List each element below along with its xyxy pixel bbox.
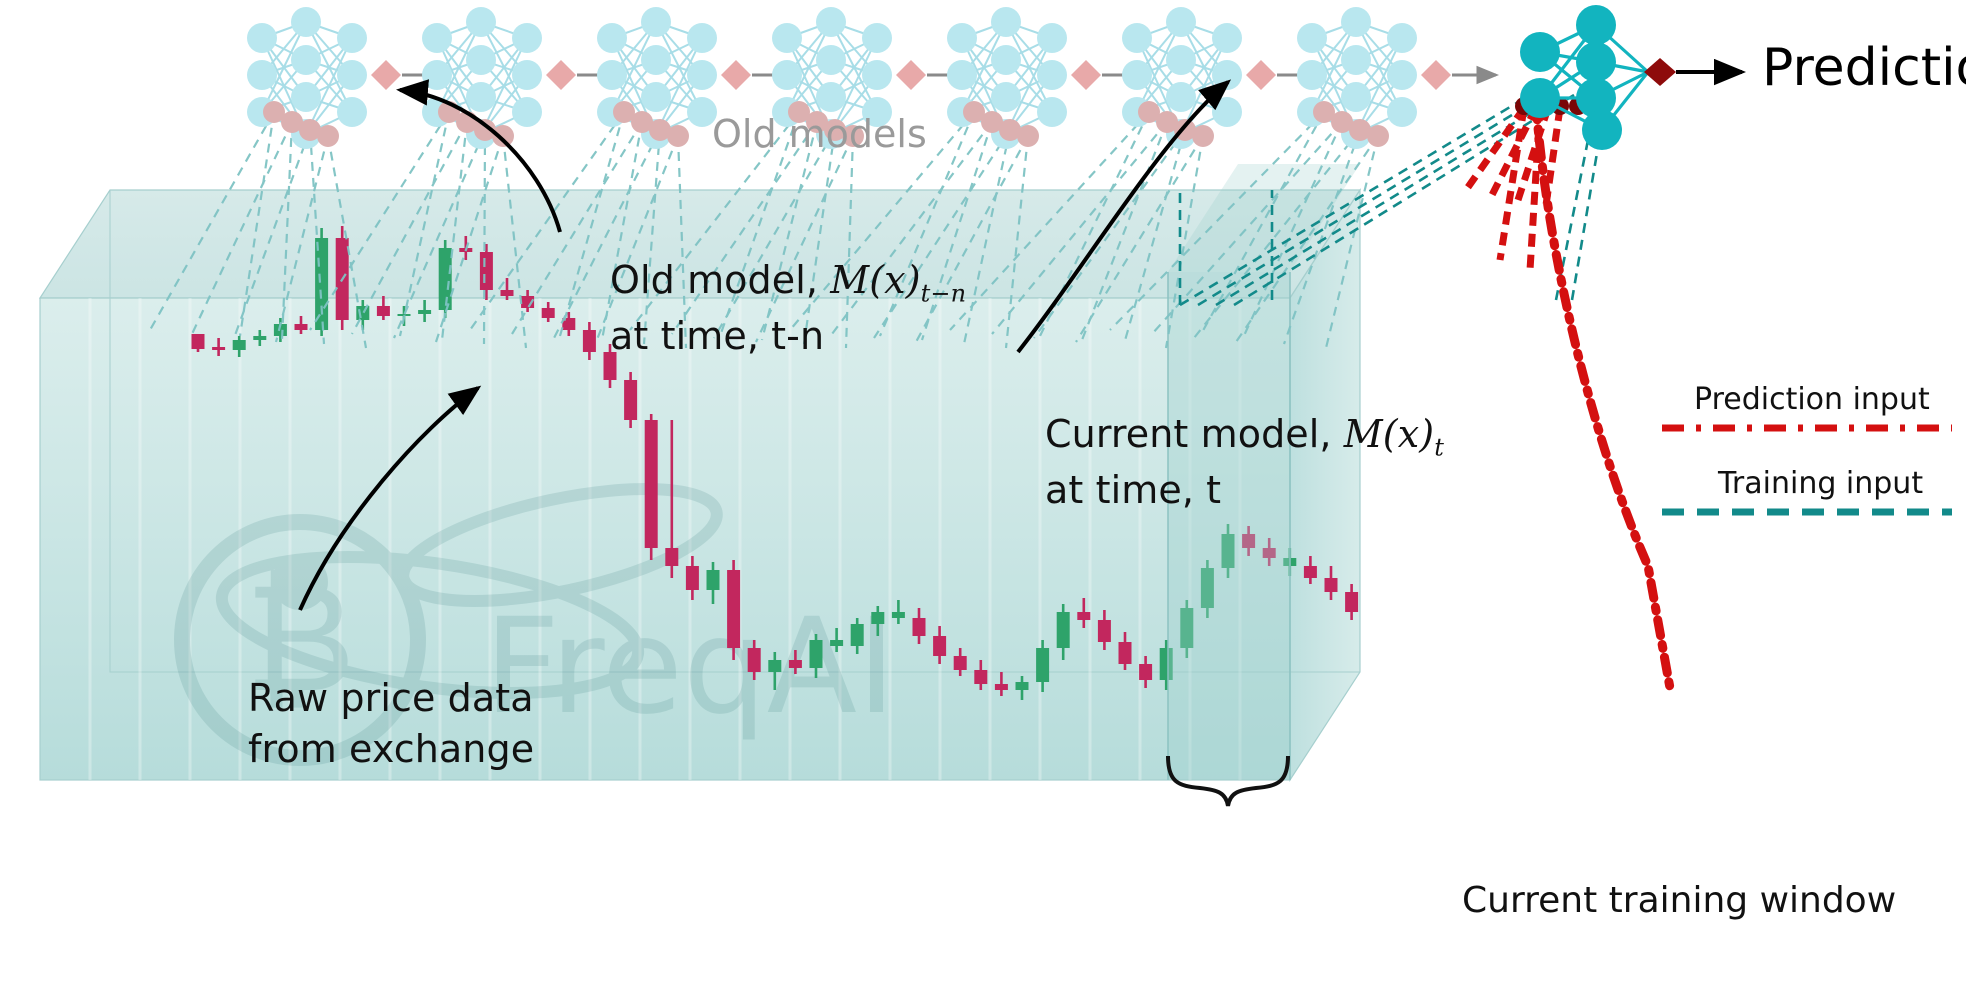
net-node (1297, 23, 1327, 53)
candle-body (1304, 566, 1317, 578)
legend-label-prediction: Prediction input (1694, 382, 1930, 417)
watermark-text: FreqAI (484, 590, 896, 744)
candle-body (707, 570, 720, 590)
net-node (512, 60, 542, 90)
candle-body (356, 306, 369, 320)
net-node (687, 60, 717, 90)
net-node (1341, 7, 1371, 37)
model-diamond-icon (1071, 60, 1101, 90)
net-node (1122, 60, 1152, 90)
net-node (337, 60, 367, 90)
net-node (317, 125, 339, 147)
output-diamond-icon (1644, 58, 1676, 86)
legend-label-training: Training input (1718, 466, 1923, 501)
raw-price-line1: Raw price data (248, 676, 534, 721)
net-node (1212, 97, 1242, 127)
candle-body (789, 660, 802, 668)
candle-body (192, 334, 205, 349)
candle-body (439, 248, 452, 310)
candle-body (377, 306, 390, 316)
old-model-math: M(x) (830, 258, 920, 302)
net-node (1166, 7, 1196, 37)
net-node (1520, 78, 1560, 118)
old-model-line2: at time, t-n (610, 314, 966, 359)
current-model-line1-prefix: Current model, (1045, 412, 1344, 456)
net-node (641, 82, 671, 112)
candle-body (1057, 612, 1070, 648)
net-node (1166, 82, 1196, 112)
candle-body (1345, 592, 1358, 612)
current-model-line2: at time, t (1045, 468, 1444, 513)
net-node (1192, 125, 1214, 147)
net-node (947, 23, 977, 53)
net-node (641, 45, 671, 75)
current-model-subscript: t (1434, 434, 1444, 462)
net-node (422, 60, 452, 90)
net-node (862, 60, 892, 90)
net-node (291, 45, 321, 75)
net-node (772, 60, 802, 90)
net-node (512, 23, 542, 53)
net-node (641, 7, 671, 37)
figure-root: ₿ FreqAI (0, 0, 1966, 981)
candle-body (295, 324, 308, 330)
candle-body (1098, 620, 1111, 642)
raw-price-annotation: Raw price data from exchange (248, 676, 534, 772)
candle-body (501, 290, 514, 296)
current-model-annotation: Current model, M(x)t at time, t (1045, 412, 1444, 513)
candle-body (1016, 682, 1029, 690)
net-node (492, 125, 514, 147)
candle-body (810, 640, 823, 668)
candle-body (1386, 556, 1399, 560)
net-node (512, 97, 542, 127)
candle-body (315, 238, 328, 330)
candle-body (233, 340, 246, 350)
net-node (1367, 125, 1389, 147)
net-node (597, 60, 627, 90)
model-diamond-icon (1421, 60, 1451, 90)
net-node (247, 23, 277, 53)
net-node (772, 23, 802, 53)
candle-body (583, 330, 596, 352)
net-node (466, 45, 496, 75)
net-node (816, 7, 846, 37)
net-node (862, 23, 892, 53)
candle-body (1366, 556, 1379, 612)
candle-body (542, 308, 555, 318)
candle-body (727, 570, 740, 648)
candle-body (686, 566, 699, 590)
net-node (337, 97, 367, 127)
net-node (466, 82, 496, 112)
candle-body (1036, 648, 1049, 682)
candle-body (1325, 578, 1338, 592)
candle-body (768, 660, 781, 672)
net-node (291, 82, 321, 112)
candle-body (624, 380, 637, 420)
net-node (816, 45, 846, 75)
net-node (1122, 23, 1152, 53)
old-model-line1-prefix: Old model, (610, 258, 830, 302)
candle-body (212, 347, 225, 350)
candle-body (851, 624, 864, 646)
net-node (1520, 32, 1560, 72)
candle-body (480, 252, 493, 290)
net-node (991, 45, 1021, 75)
training-window-label: Current training window (1462, 880, 1896, 921)
net-node (816, 82, 846, 112)
net-node (1166, 45, 1196, 75)
net-node (337, 23, 367, 53)
net-node (1037, 97, 1067, 127)
net-node (1387, 23, 1417, 53)
old-models-label: Old models (712, 112, 927, 156)
candle-body (1119, 642, 1132, 664)
candle-body (913, 618, 926, 636)
candle-body (1139, 664, 1152, 680)
net-node (466, 7, 496, 37)
candle-body (830, 640, 843, 646)
current-model-network (1520, 5, 1742, 150)
candle-body (665, 548, 678, 566)
candle-body (871, 612, 884, 624)
old-model-subscript: t−n (921, 280, 967, 308)
model-diamond-icon (1246, 60, 1276, 90)
model-diamond-icon (721, 60, 751, 90)
candle-body (645, 420, 658, 548)
net-node (1297, 60, 1327, 90)
model-diamond-icon (371, 60, 401, 90)
candle-body (892, 612, 905, 618)
net-node (1387, 97, 1417, 127)
net-node (1212, 23, 1242, 53)
net-node (991, 7, 1021, 37)
net-node (1037, 23, 1067, 53)
net-node (1341, 82, 1371, 112)
current-model-math: M(x) (1344, 412, 1434, 456)
old-model-annotation: Old model, M(x)t−n at time, t-n (610, 258, 966, 359)
diagram-canvas: ₿ FreqAI (0, 0, 1966, 981)
candle-body (748, 648, 761, 672)
net-node (1576, 42, 1616, 82)
candle-body (974, 670, 987, 684)
net-node (247, 60, 277, 90)
candle-body (1077, 612, 1090, 620)
prediction-input-curve (1466, 97, 1682, 688)
net-node (422, 23, 452, 53)
net-node (687, 23, 717, 53)
net-node (667, 125, 689, 147)
candle-body (954, 656, 967, 670)
candle-body (995, 684, 1008, 690)
net-node (597, 23, 627, 53)
prediction-label: Prediction (1762, 38, 1966, 98)
raw-price-line2: from exchange (248, 727, 534, 772)
net-node (1576, 5, 1616, 45)
net-node (1582, 110, 1622, 150)
net-node (1341, 45, 1371, 75)
net-node (1017, 125, 1039, 147)
candle-body (933, 636, 946, 656)
candle-body (418, 310, 431, 314)
candle-body (253, 336, 266, 340)
net-node (291, 7, 321, 37)
net-node (991, 82, 1021, 112)
net-node (1037, 60, 1067, 90)
net-node (947, 60, 977, 90)
model-diamond-icon (896, 60, 926, 90)
net-node (1387, 60, 1417, 90)
model-diamond-icon (546, 60, 576, 90)
